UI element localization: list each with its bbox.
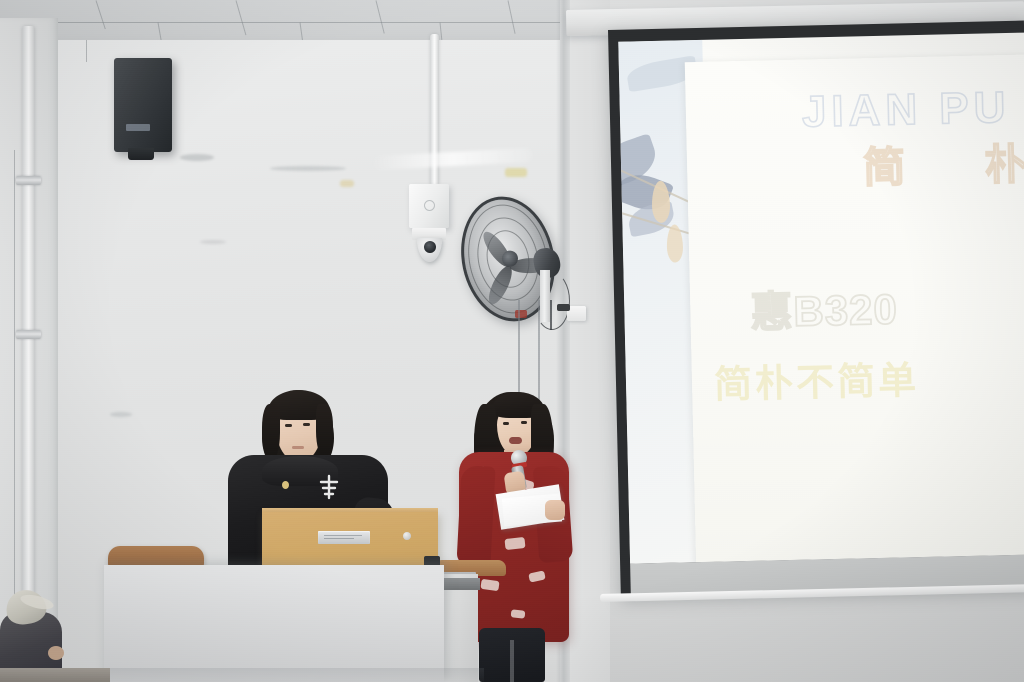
speaker-badge [126,124,150,131]
lectern-knob[interactable] [403,532,411,540]
presenter-left-chest-graphic [316,474,342,500]
presenter-right-eye [521,421,527,424]
presenter-left-hair-side [316,404,333,458]
fan-cord-tail [550,300,552,330]
projection-screen-surface: JIAN PU 简 朴 惠B320 简朴不简单 [618,33,1024,564]
presenter-right-eye [503,422,509,425]
presenter-left-hair-side [262,404,280,462]
presenter-right-arm [456,465,495,567]
wall-speaker [114,58,172,152]
desk-floor-shadow [104,668,484,682]
camera-lens-icon [424,241,436,253]
front-desk-counter [104,565,444,682]
wall-wire [14,150,15,650]
pipe-clamp [16,176,41,185]
presenter-right-mouth [509,437,522,444]
slide-title-english: JIAN PU [801,83,1011,138]
seated-person-hand [48,646,64,660]
outlet-plug [557,304,570,311]
ceiling-wire [86,40,87,62]
slide-title-chinese: 简 朴 [862,130,1024,195]
presenter-right-hand [545,500,565,520]
camera-mount-mark [424,200,435,211]
fan-label [515,310,527,318]
pipe-clamp [16,330,41,339]
presenter-left-eye [303,423,310,426]
presenter-left-zipper-pull [282,481,289,489]
projection-screen-frame: JIAN PU 简 朴 惠B320 简朴不简单 [608,21,1024,598]
slide-card-panel: JIAN PU 简 朴 惠B320 简朴不简单 [685,54,1024,563]
presenter-left-mouth [292,446,304,449]
lectern-name-plate [318,531,370,544]
slide-room-code: 惠B320 [750,276,899,340]
presenter-left-eye [285,424,292,427]
floor-strip [0,668,110,682]
hanging-mic-cable [538,300,540,412]
slide-tagline: 简朴不简单 [713,349,919,409]
classroom-photo-scene: JIAN PU 简 朴 惠B320 简朴不简单 [0,0,1024,682]
speaker-bracket [128,148,154,160]
presenter-right-leg-gap [510,640,514,682]
wall-conduit-pipe [22,26,35,656]
